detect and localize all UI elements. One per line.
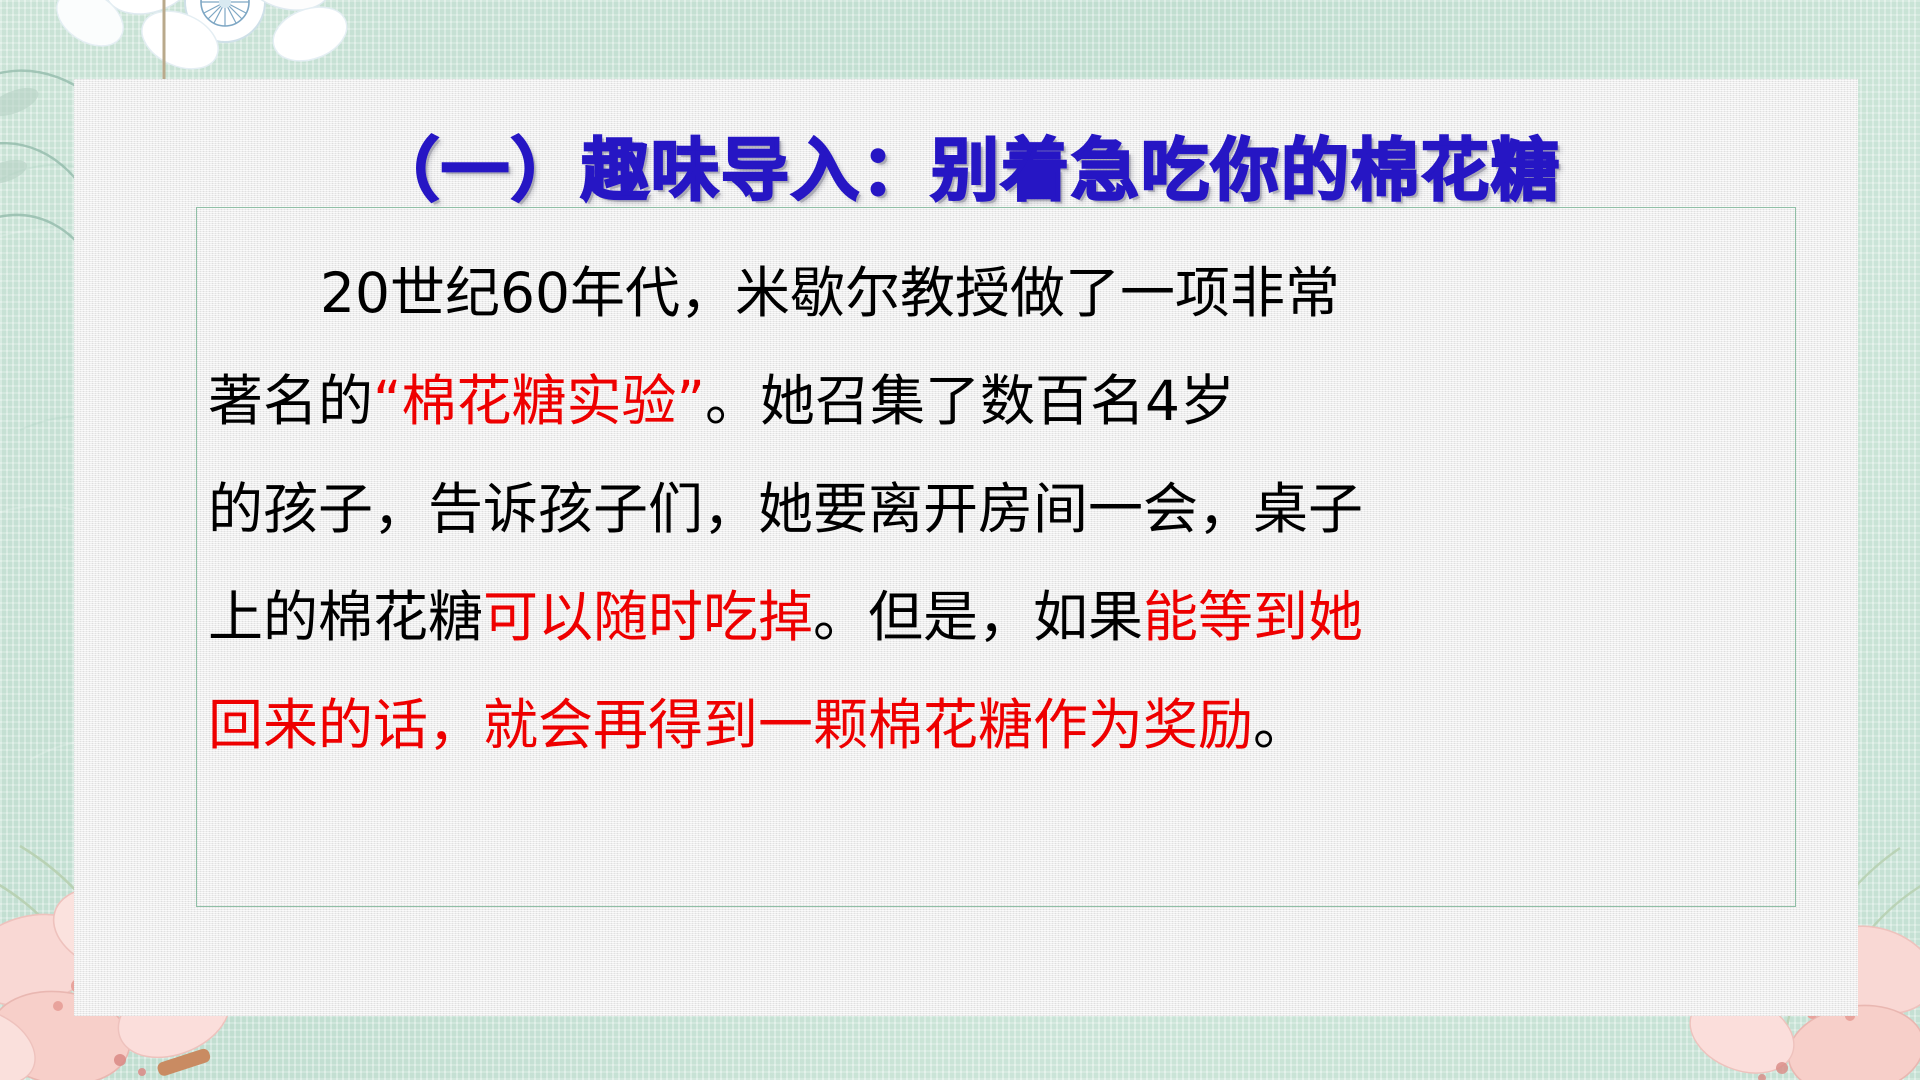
line1-text: 20世纪60年代，米歇尔教授做了一项非常 bbox=[320, 261, 1340, 325]
line2-highlight: “棉花糖实验” bbox=[373, 369, 705, 433]
line4-highlight-2: 能等到她 bbox=[1143, 585, 1363, 649]
line5-text-b: 。 bbox=[1253, 693, 1308, 757]
slide-canvas: （一）趣味导入：别着急吃你的棉花糖 20世纪60年代，米歇尔教授做了一项非常 著… bbox=[0, 0, 1920, 1080]
content-panel: （一）趣味导入：别着急吃你的棉花糖 20世纪60年代，米歇尔教授做了一项非常 著… bbox=[74, 79, 1858, 1016]
body-line-5: 回来的话，就会再得到一颗棉花糖作为奖励。 bbox=[208, 671, 1788, 779]
page-title: （一）趣味导入：别着急吃你的棉花糖 bbox=[74, 115, 1858, 214]
body-line-2: 著名的“棉花糖实验”。她召集了数百名4岁 bbox=[208, 347, 1788, 455]
line4-highlight-1: 可以随时吃掉 bbox=[483, 585, 813, 649]
body-paragraph: 20世纪60年代，米歇尔教授做了一项非常 著名的“棉花糖实验”。她召集了数百名4… bbox=[208, 239, 1788, 779]
line2-text-c: 。她召集了数百名4岁 bbox=[705, 369, 1235, 433]
line3-text: 的孩子，告诉孩子们，她要离开房间一会，桌子 bbox=[208, 477, 1363, 541]
line4-text-c: 。但是，如果 bbox=[813, 585, 1143, 649]
line2-text-a: 著名的 bbox=[208, 369, 373, 433]
body-line-4: 上的棉花糖可以随时吃掉。但是，如果能等到她 bbox=[208, 563, 1788, 671]
line4-text-a: 上的棉花糖 bbox=[208, 585, 483, 649]
body-line-1: 20世纪60年代，米歇尔教授做了一项非常 bbox=[208, 239, 1788, 347]
body-line-3: 的孩子，告诉孩子们，她要离开房间一会，桌子 bbox=[208, 455, 1788, 563]
line5-highlight: 回来的话，就会再得到一颗棉花糖作为奖励 bbox=[208, 693, 1253, 757]
